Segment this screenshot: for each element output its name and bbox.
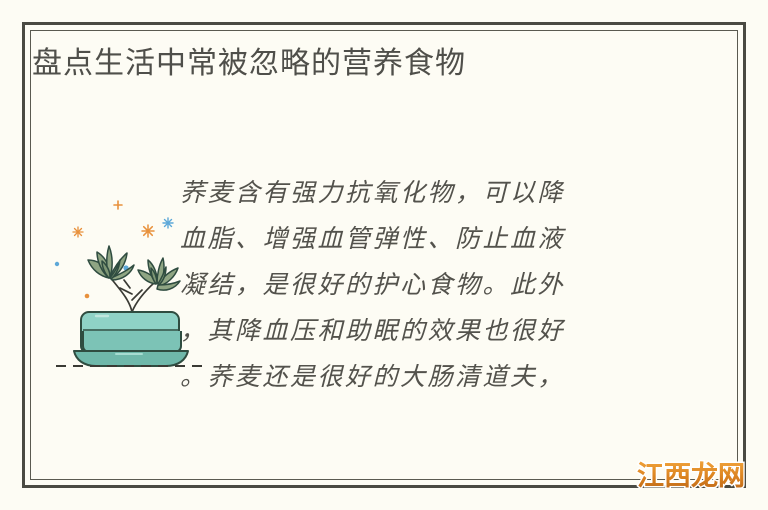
article-line: ，其降血压和助眠的效果也很好 (180, 308, 610, 354)
site-watermark: 江西龙网 (637, 461, 745, 492)
planter-saucer (74, 351, 188, 366)
page-title: 盘点生活中常被忽略的营养食物 (32, 44, 466, 84)
succulent-rosette-right (138, 258, 180, 290)
sparkle-dot-orange-low (85, 294, 90, 299)
article-line: 荞麦含有强力抗氧化物，可以降 (180, 170, 610, 216)
sparkle-icon-orange-mid (142, 225, 154, 237)
succulent-rosette-left (88, 246, 134, 280)
sparkle-icon-orange-left (73, 227, 83, 237)
sparkle-dot-blue-left (55, 262, 59, 266)
article-line: 凝结，是很好的护心食物。此外 (180, 262, 610, 308)
planter-pot (81, 312, 181, 352)
sparkle-icon-orange-top (114, 201, 122, 209)
article-line: 。荞麦还是很好的大肠清道夫， (180, 354, 610, 400)
article-line: 血脂、增强血管弹性、防止血液 (180, 216, 610, 262)
sparkle-icon-blue-upper (163, 218, 173, 228)
article-body: 荞麦含有强力抗氧化物，可以降 血脂、增强血管弹性、防止血液 凝结，是很好的护心食… (180, 170, 610, 400)
